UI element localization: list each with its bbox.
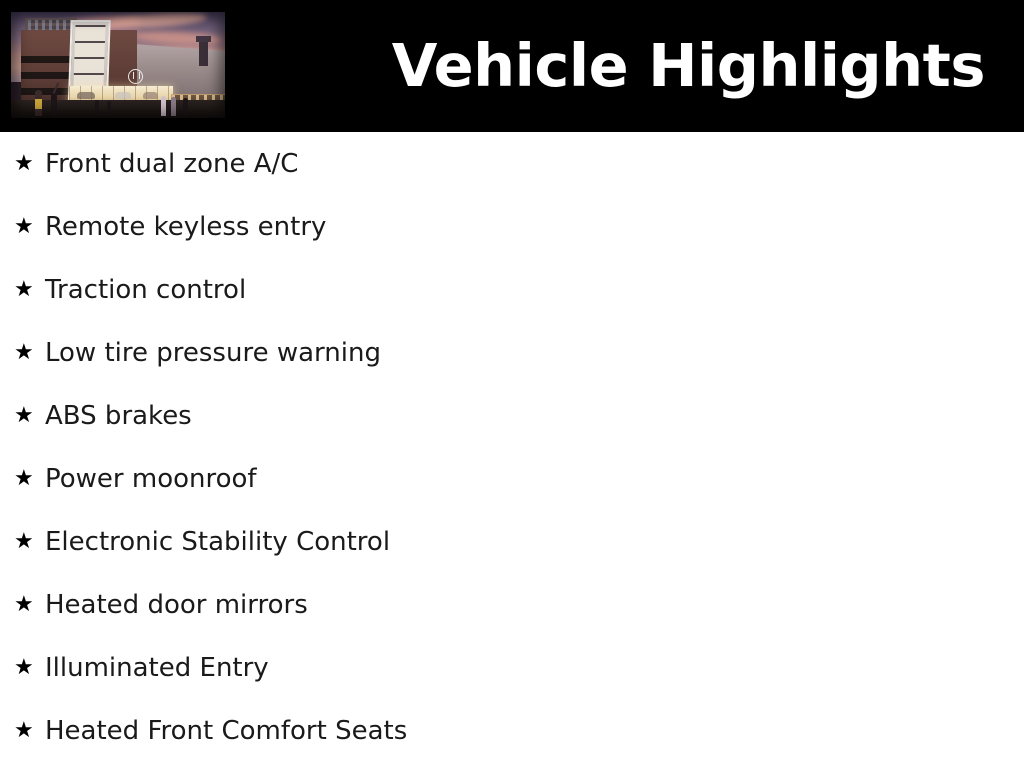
page-title: Vehicle Highlights — [392, 28, 985, 104]
list-item-label: ABS brakes — [45, 400, 192, 432]
slide-header-band: Vehicle Highlights — [0, 0, 1024, 132]
list-item-label: Heated Front Comfort Seats — [45, 715, 407, 747]
pedestrian-figure — [95, 100, 99, 115]
list-item-label: Heated door mirrors — [45, 589, 308, 621]
showroom-car — [143, 92, 158, 99]
list-item-label: Electronic Stability Control — [45, 526, 390, 558]
star-bullet-icon: ★ — [14, 720, 45, 742]
list-item: ★ ABS brakes — [0, 384, 1024, 447]
list-item: ★ Illuminated Entry — [0, 636, 1024, 699]
vehicle-highlights-list: ★ Front dual zone A/C ★ Remote keyless e… — [0, 132, 1024, 762]
star-bullet-icon: ★ — [14, 531, 45, 553]
star-bullet-icon: ★ — [14, 657, 45, 679]
star-bullet-icon: ★ — [14, 216, 45, 238]
pedestrian-figure — [35, 90, 42, 116]
list-item-label: Traction control — [45, 274, 246, 306]
list-item: ★ Low tire pressure warning — [0, 321, 1024, 384]
pedestrian-figure — [171, 97, 176, 116]
list-item: ★ Electronic Stability Control — [0, 510, 1024, 573]
list-item: ★ Remote keyless entry — [0, 195, 1024, 258]
street-plaza — [11, 100, 225, 118]
showroom-car — [77, 92, 95, 99]
star-bullet-icon: ★ — [14, 405, 45, 427]
list-item-label: Low tire pressure warning — [45, 337, 381, 369]
pedestrian-figure — [161, 96, 166, 116]
star-bullet-icon: ★ — [14, 468, 45, 490]
list-item: ★ Traction control — [0, 258, 1024, 321]
list-item: ★ Heated Front Comfort Seats — [0, 699, 1024, 762]
list-item-label: Front dual zone A/C — [45, 148, 298, 180]
chimney-silhouette — [199, 40, 208, 66]
vw-logo-icon — [128, 69, 143, 84]
star-bullet-icon: ★ — [14, 594, 45, 616]
list-item-label: Power moonroof — [45, 463, 257, 495]
list-item: ★ Power moonroof — [0, 447, 1024, 510]
star-bullet-icon: ★ — [14, 279, 45, 301]
dealership-photo — [11, 12, 225, 118]
list-item: ★ Front dual zone A/C — [0, 132, 1024, 195]
pedestrian-figure — [183, 98, 188, 116]
star-bullet-icon: ★ — [14, 342, 45, 364]
list-item: ★ Heated door mirrors — [0, 573, 1024, 636]
showroom-car — [115, 92, 131, 99]
list-item-label: Illuminated Entry — [45, 652, 269, 684]
star-bullet-icon: ★ — [14, 153, 45, 175]
list-item-label: Remote keyless entry — [45, 211, 326, 243]
pedestrian-figure — [107, 101, 111, 115]
dealership-photo-canvas — [11, 12, 225, 118]
